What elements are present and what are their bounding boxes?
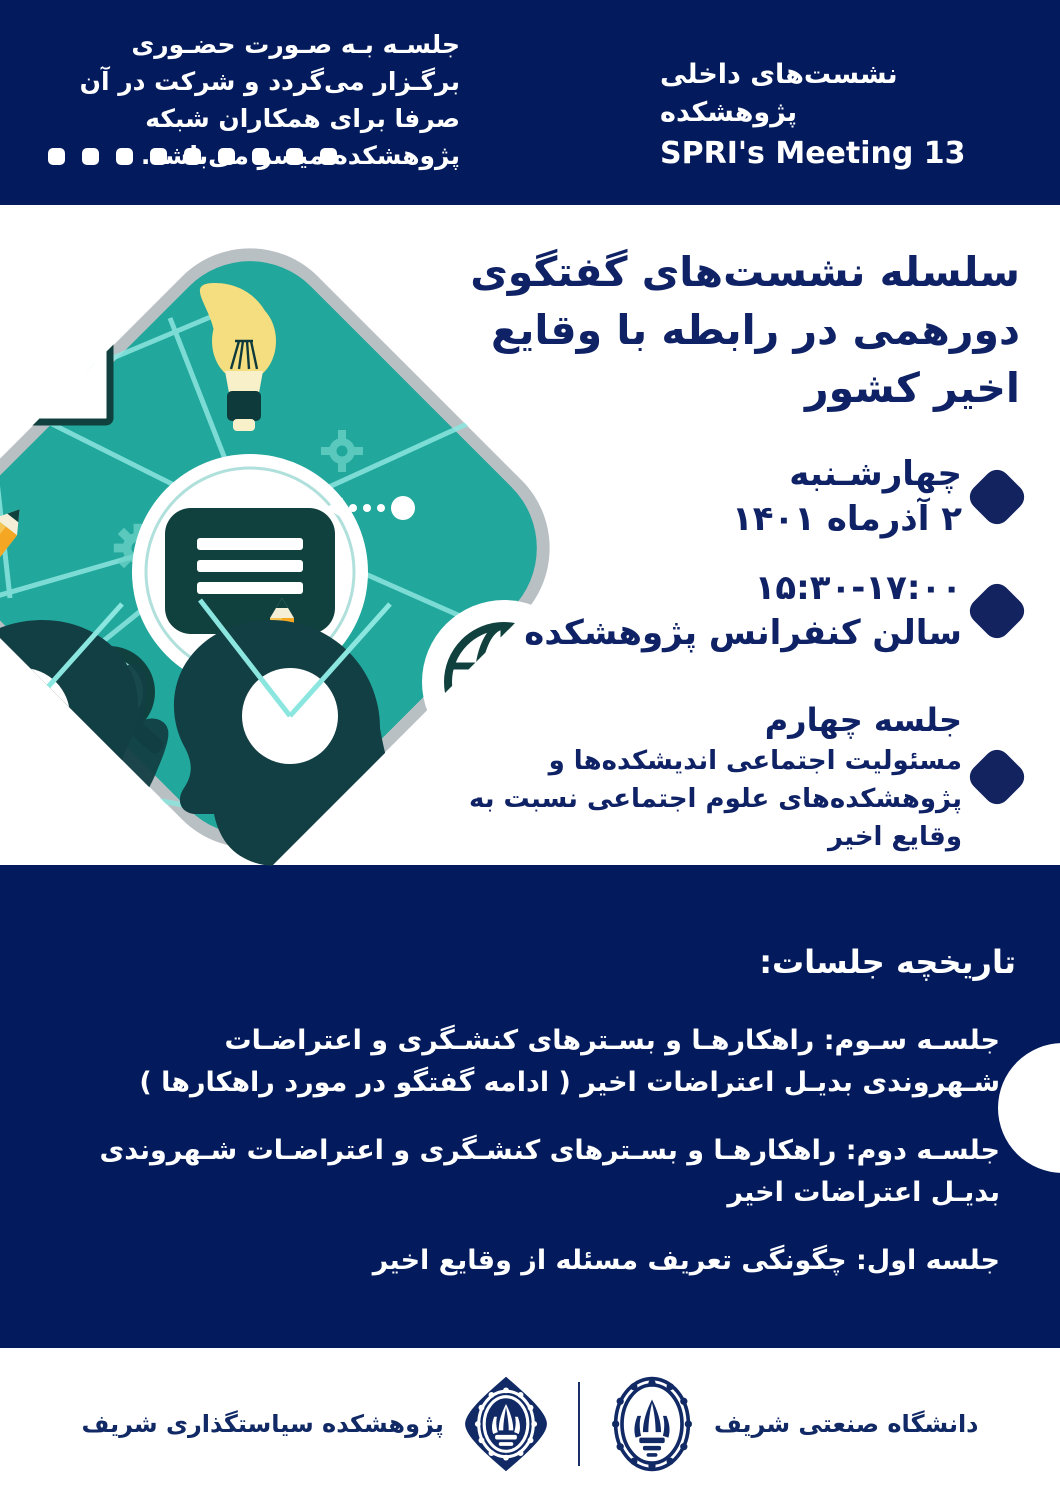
dot-4 [218, 148, 235, 165]
event-venue: سالن کنفرانس پژوهشکده [410, 611, 962, 656]
envelope-icon [0, 330, 110, 422]
spri-label: پژوهشکده سیاستگذاری شریف [82, 1410, 444, 1438]
dot-6 [150, 148, 167, 165]
session-label: جلسه چهارم [410, 698, 962, 742]
diamond-bullet-icon [964, 578, 1029, 643]
decorative-dots [48, 148, 337, 165]
footer-divider [578, 1382, 580, 1466]
event-weekday: چهارشـنبه [410, 452, 962, 497]
dot-5 [184, 148, 201, 165]
diamond-bullet-icon [964, 744, 1029, 809]
event-poster: جلسـه بـه صـورت حضـوری برگـزار می‌گردد و… [0, 0, 1060, 1500]
series-title-fa: نشست‌های داخلی پژوهشکده [660, 56, 1000, 132]
dot-2 [286, 148, 303, 165]
spri-brand: پژوهشکده سیاستگذاری شریف [82, 1374, 552, 1474]
dot-1 [320, 148, 337, 165]
event-date: ۲ آذرماه ۱۴۰۱ [410, 497, 962, 542]
event-time: ۱۵:۳۰-۱۷:۰۰ [410, 566, 962, 611]
history-heading: تاریخچه جلسات: [759, 943, 1016, 981]
dot-7 [116, 148, 133, 165]
meeting-series-block: نشست‌های داخلی پژوهشکده SPRI's Meeting 1… [660, 56, 1000, 174]
history-item: جلسه اول: چگونگی تعریف مسئله از وقایع اخ… [80, 1240, 1000, 1282]
footer: دانشگاه صنعتی شریف [0, 1348, 1060, 1500]
diamond-bullet-icon [964, 464, 1029, 529]
arrow-dots-icon [25, 226, 115, 250]
page-title: سلسله نشست‌های گفتگوی دورهمی در رابطه با… [420, 243, 1020, 417]
session-topic-line-2: پژوهشکده‌های علوم اجتماعی نسبت به وقایع … [410, 780, 962, 856]
dot-8 [82, 148, 99, 165]
sharif-university-brand: دانشگاه صنعتی شریف [606, 1374, 979, 1474]
sharif-university-logo-icon [606, 1374, 698, 1474]
dot-9 [48, 148, 65, 165]
decorative-notch [998, 1043, 1060, 1173]
spri-logo-icon [460, 1374, 552, 1474]
history-item: جلسـه سـوم: راهکارهـا و بسـترهای کنشـگری… [80, 1020, 1000, 1104]
session-row: جلسه چهارم مسئولیت اجتماعی اندیشکده‌ها و… [410, 698, 1030, 856]
history-item: جلسـه دوم: راهکارهـا و بسـترهای کنشـگری … [80, 1130, 1000, 1214]
sharif-university-label: دانشگاه صنعتی شریف [714, 1410, 979, 1438]
footer-brands: دانشگاه صنعتی شریف [82, 1374, 979, 1474]
session-history-section: تاریخچه جلسات: جلسـه سـوم: راهکارهـا و ب… [0, 865, 1060, 1348]
dot-3 [252, 148, 269, 165]
date-row: چهارشـنبه ۲ آذرماه ۱۴۰۱ [410, 452, 1030, 542]
series-title-en: SPRI's Meeting 13 [660, 134, 1000, 174]
event-details-list: چهارشـنبه ۲ آذرماه ۱۴۰۱ ۱۵:۳۰-۱۷:۰۰ سالن… [410, 452, 1030, 880]
time-venue-row: ۱۵:۳۰-۱۷:۰۰ سالن کنفرانس پژوهشکده [410, 566, 1030, 656]
session-topic-line-1: مسئولیت اجتماعی اندیشکده‌ها و [410, 742, 962, 780]
